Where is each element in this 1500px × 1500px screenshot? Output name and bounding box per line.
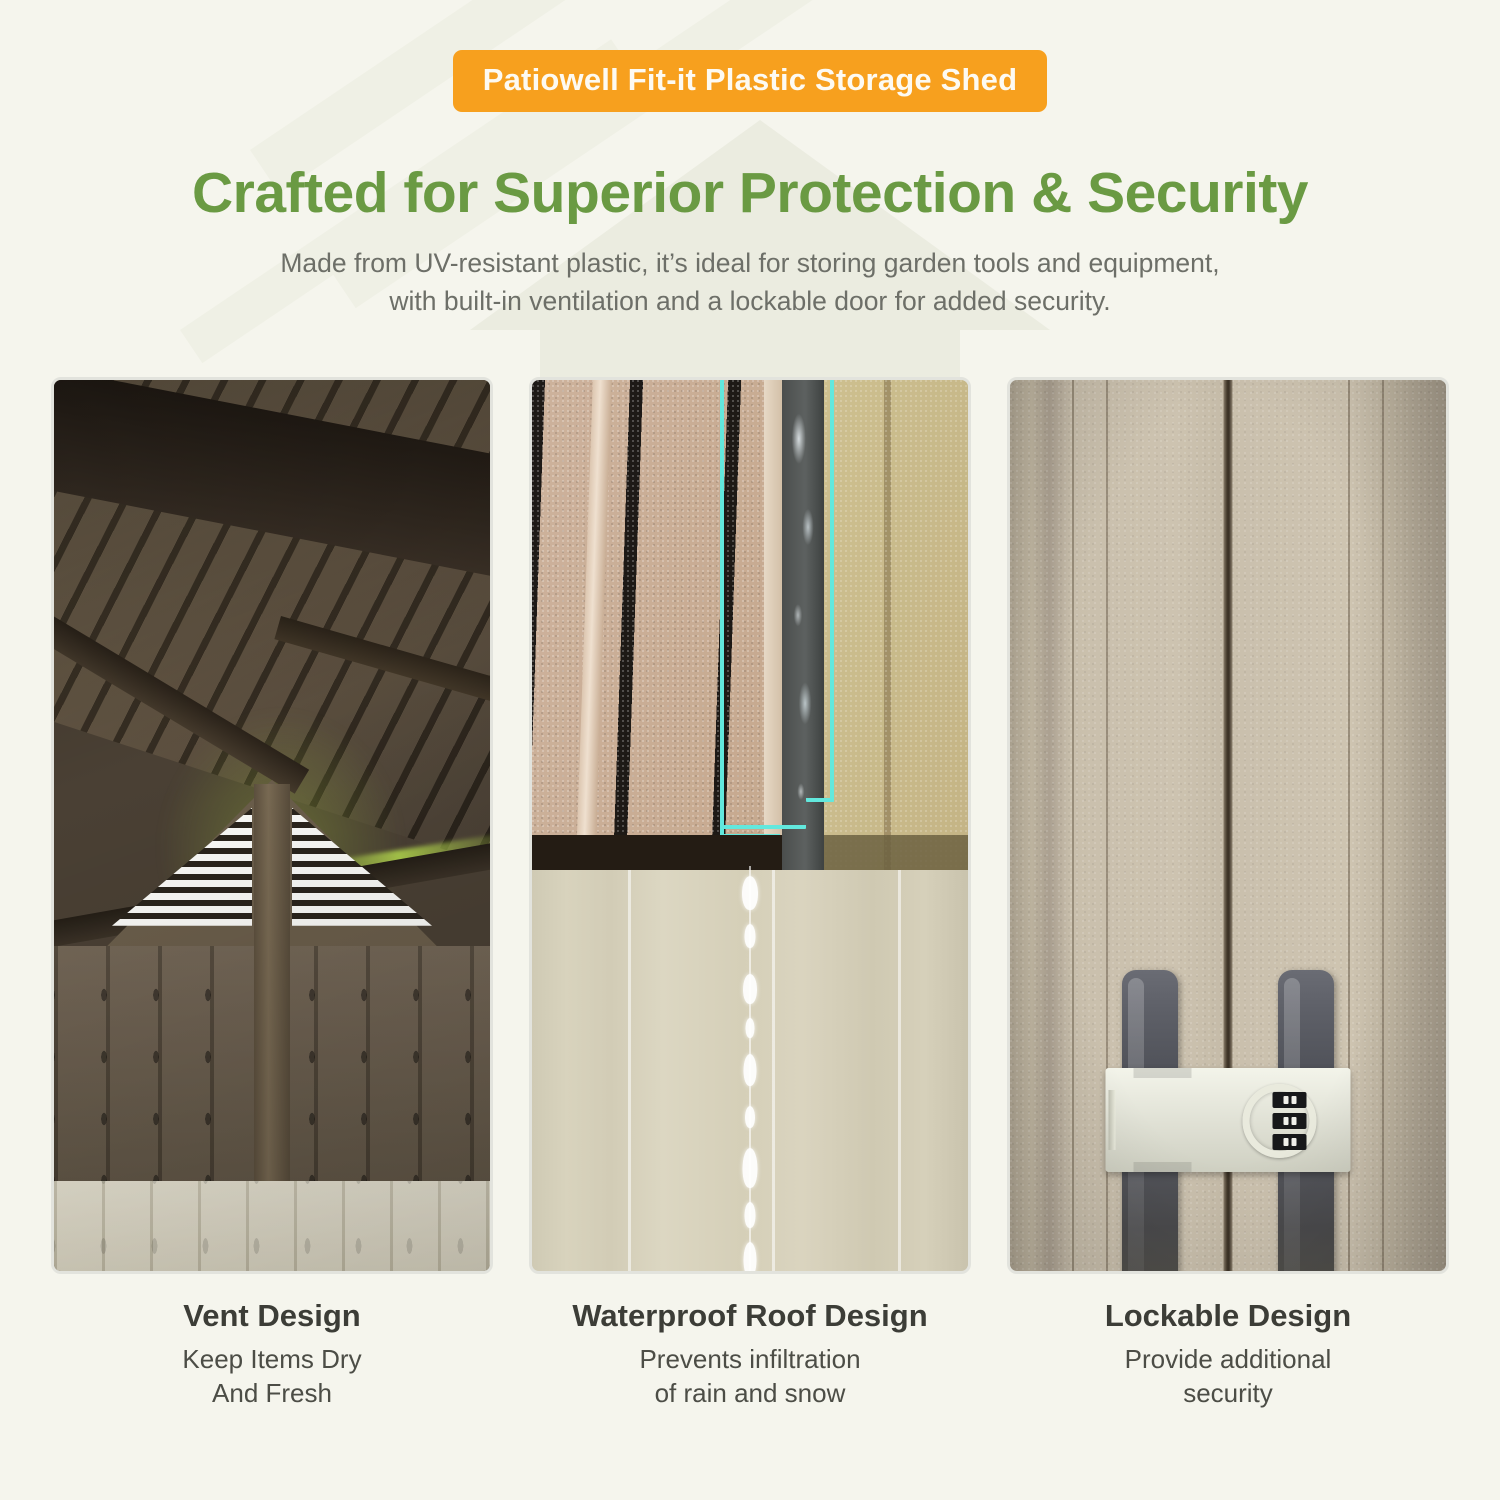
highlight-outline-left-icon <box>720 380 806 829</box>
water-droplet <box>745 1202 756 1228</box>
water-droplet <box>743 974 757 1004</box>
water-droplet <box>744 1242 757 1274</box>
product-title-badge: Patiowell Fit-it Plastic Storage Shed <box>453 50 1048 112</box>
feature-card-waterproof: Waterproof Roof Design Prevents infiltra… <box>529 377 971 1411</box>
page-subtitle-line-1: Made from UV-resistant plastic, it’s ide… <box>0 245 1500 283</box>
highlight-outline-step-icon <box>720 804 780 838</box>
roof-joint-closeup <box>532 380 968 870</box>
lock-dial <box>1273 1113 1307 1129</box>
wall-base-trim <box>54 1181 490 1271</box>
water-droplet <box>742 876 758 910</box>
lock-dial <box>1273 1134 1307 1150</box>
feature-subtitle-waterproof: Prevents infiltration of rain and snow <box>529 1343 971 1411</box>
feature-subtitle-lockable: Provide additional security <box>1007 1343 1449 1411</box>
base-rivet-pattern <box>54 1181 490 1271</box>
infographic-page: Patiowell Fit-it Plastic Storage Shed Cr… <box>0 0 1500 1500</box>
vent-louvers-right-icon <box>292 808 432 926</box>
feature-subtitle-line-2: of rain and snow <box>529 1377 971 1411</box>
water-droplet <box>744 1054 757 1086</box>
feature-image-lockable <box>1007 377 1449 1274</box>
feature-title-waterproof: Waterproof Roof Design <box>529 1298 971 1334</box>
feature-subtitle-vent: Keep Items Dry And Fresh <box>51 1343 493 1411</box>
page-subtitle: Made from UV-resistant plastic, it’s ide… <box>0 245 1500 320</box>
hasp-notch-top <box>1134 1068 1192 1078</box>
feature-card-lockable: Lockable Design Provide additional secur… <box>1007 377 1449 1411</box>
water-droplet <box>746 1018 755 1038</box>
feature-subtitle-line-1: Keep Items Dry <box>51 1343 493 1377</box>
feature-subtitle-line-1: Provide additional <box>1007 1343 1449 1377</box>
badge-row: Patiowell Fit-it Plastic Storage Shed <box>0 0 1500 112</box>
hasp-latch <box>1106 1068 1351 1172</box>
page-title: Crafted for Superior Protection & Securi… <box>0 164 1500 224</box>
feature-card-grid: Vent Design Keep Items Dry And Fresh <box>0 377 1500 1411</box>
roof-eave-shadow-right <box>824 835 971 873</box>
feature-subtitle-line-2: security <box>1007 1377 1449 1411</box>
feature-title-lockable: Lockable Design <box>1007 1298 1449 1334</box>
door-groove <box>1072 380 1074 1271</box>
feature-image-waterproof <box>529 377 971 1274</box>
wall-seam <box>898 870 901 1274</box>
combination-lock-dials <box>1273 1092 1307 1150</box>
page-subtitle-line-2: with built-in ventilation and a lockable… <box>0 283 1500 321</box>
feature-subtitle-line-1: Prevents infiltration <box>529 1343 971 1377</box>
door-groove <box>1382 380 1384 1271</box>
feature-image-vent <box>51 377 493 1274</box>
water-droplet <box>745 1106 755 1128</box>
falling-water-stream <box>731 866 769 1274</box>
water-droplet <box>743 1148 758 1188</box>
vent-louvers-left-icon <box>112 808 252 926</box>
hasp-hinge <box>1109 1090 1116 1150</box>
hasp-notch-bottom <box>1134 1162 1192 1172</box>
wall-seam <box>628 870 631 1274</box>
feature-subtitle-line-2: And Fresh <box>51 1377 493 1411</box>
feature-card-vent: Vent Design Keep Items Dry And Fresh <box>51 377 493 1411</box>
lock-dial <box>1273 1092 1307 1108</box>
highlight-outline-right-icon <box>806 380 834 802</box>
wall-seam <box>772 870 775 1274</box>
water-droplet <box>745 924 756 948</box>
feature-title-vent: Vent Design <box>51 1298 493 1334</box>
